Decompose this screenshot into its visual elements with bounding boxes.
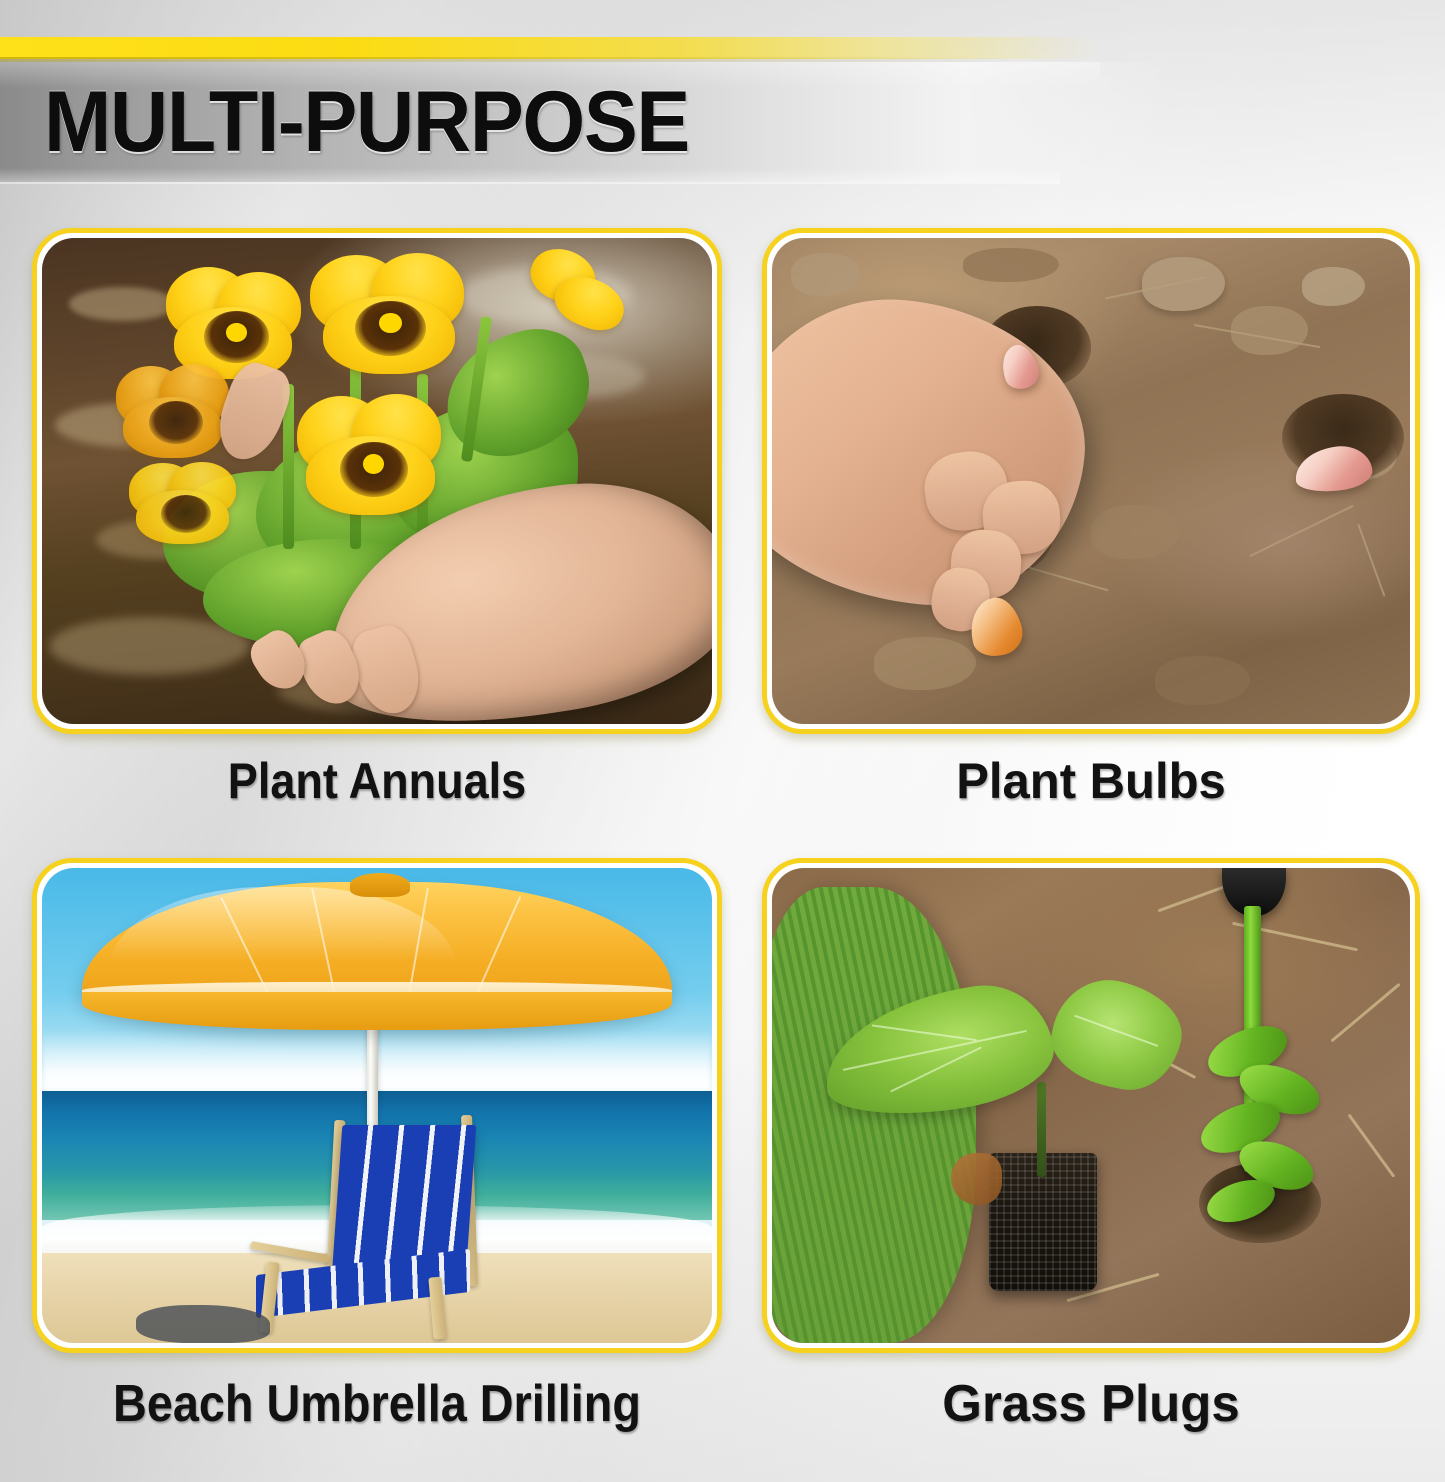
feature-cell-plant-bulbs: Plant Bulbs bbox=[762, 228, 1420, 846]
image-card[interactable] bbox=[32, 858, 722, 1353]
card-caption: Grass Plugs bbox=[769, 1374, 1414, 1434]
image-card[interactable] bbox=[762, 858, 1420, 1353]
plant-bulbs-photo bbox=[772, 238, 1410, 724]
card-caption: Plant Annuals bbox=[67, 752, 688, 810]
image-card[interactable] bbox=[32, 228, 722, 734]
image-card[interactable] bbox=[762, 228, 1420, 734]
beach-umbrella-photo bbox=[42, 868, 712, 1343]
feature-cell-beach-umbrella: Beach Umbrella Drilling bbox=[32, 858, 722, 1476]
feature-cell-plant-annuals: Plant Annuals bbox=[32, 228, 722, 846]
card-caption: Plant Bulbs bbox=[769, 752, 1414, 810]
feature-cell-grass-plugs: Grass Plugs bbox=[762, 858, 1420, 1476]
plant-annuals-photo bbox=[42, 238, 712, 724]
feature-grid: Plant Annuals bbox=[0, 0, 1445, 1482]
card-caption: Beach Umbrella Drilling bbox=[67, 1374, 688, 1434]
grass-plugs-photo bbox=[772, 868, 1410, 1343]
